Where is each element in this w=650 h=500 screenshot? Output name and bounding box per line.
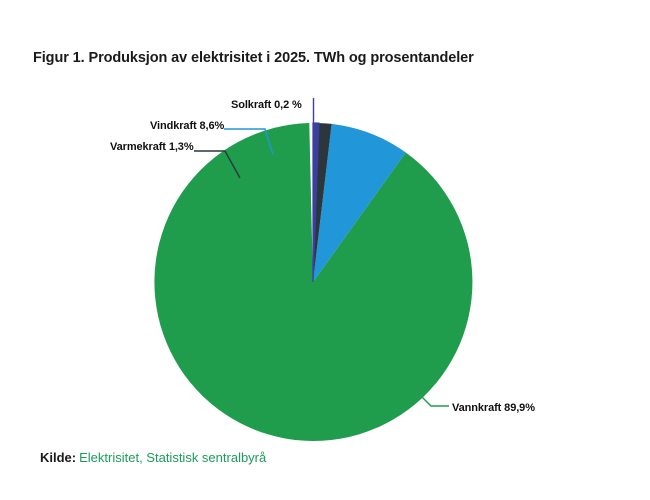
source-link[interactable]: Elektrisitet, Statistisk sentralbyrå <box>79 450 266 465</box>
pie-chart <box>0 0 650 500</box>
pie-label-varmekraft: Varmekraft 1,3% <box>110 141 194 153</box>
figure-container: Figur 1. Produksjon av elektrisitet i 20… <box>0 0 650 500</box>
source-prefix-label: Kilde: <box>40 450 76 465</box>
source-line: Kilde:Elektrisitet, Statistisk sentralby… <box>40 450 266 465</box>
pie-label-vannkraft: Vannkraft 89,9% <box>452 402 535 414</box>
pie-label-vindkraft: Vindkraft 8,6% <box>150 120 224 132</box>
pie-label-solkraft: Solkraft 0,2 % <box>231 99 302 111</box>
